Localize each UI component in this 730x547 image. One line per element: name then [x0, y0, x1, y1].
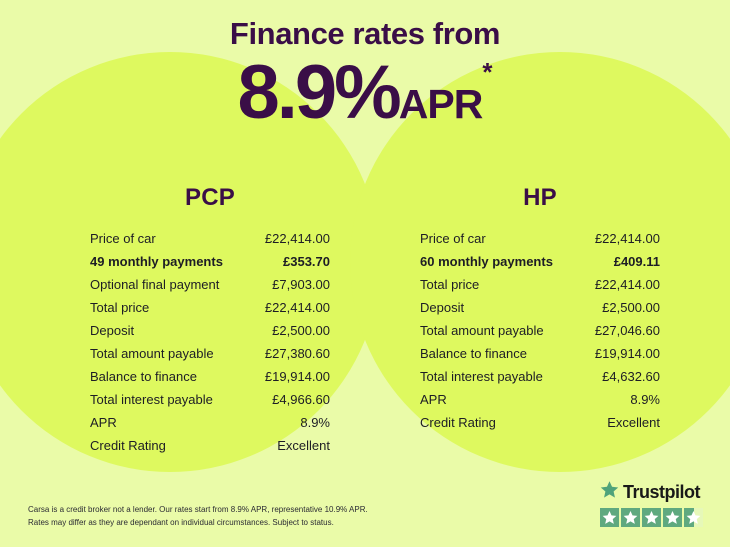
row-label: Total interest payable [90, 388, 213, 411]
table-row: Balance to finance £19,914.00 [90, 365, 330, 388]
row-value: £22,414.00 [255, 296, 330, 319]
row-value: £353.70 [273, 250, 330, 273]
row-label: Optional final payment [90, 273, 219, 296]
table-row: 49 monthly payments £353.70 [90, 250, 330, 273]
row-label: Deposit [420, 296, 464, 319]
comparison-tables: PCP Price of car £22,414.00 49 monthly p… [0, 186, 730, 457]
row-value: £19,914.00 [255, 365, 330, 388]
hero-rate-line: 8.9%APR* [0, 49, 730, 131]
banner-content: Finance rates from 8.9%APR* PCP Price of… [0, 0, 730, 547]
trustpilot-rating[interactable]: Trustpilot [600, 480, 710, 527]
row-value: 8.9% [620, 388, 660, 411]
row-label: Credit Rating [90, 434, 166, 457]
star-icon [600, 508, 619, 527]
hero-section: Finance rates from 8.9%APR* [0, 0, 730, 131]
row-label: Credit Rating [420, 411, 496, 434]
star-icon [663, 508, 682, 527]
disclaimer-line-2: Rates may differ as they are dependant o… [28, 516, 458, 529]
table-row: Price of car £22,414.00 [90, 227, 330, 250]
legal-disclaimer: Carsa is a credit broker not a lender. O… [28, 503, 458, 529]
table-row: Deposit £2,500.00 [420, 296, 660, 319]
row-value: £22,414.00 [255, 227, 330, 250]
row-value: £7,903.00 [262, 273, 330, 296]
table-row: Deposit £2,500.00 [90, 319, 330, 342]
row-label: Total price [420, 273, 479, 296]
table-row: Optional final payment £7,903.00 [90, 273, 330, 296]
hero-asterisk: * [482, 57, 492, 87]
table-row: Total interest payable £4,966.60 [90, 388, 330, 411]
finance-rates-banner: Finance rates from 8.9%APR* PCP Price of… [0, 0, 730, 547]
row-value: £4,632.60 [592, 365, 660, 388]
table-row: Total price £22,414.00 [90, 296, 330, 319]
row-value: Excellent [267, 434, 330, 457]
row-label: APR [420, 388, 447, 411]
row-value: £4,966.60 [262, 388, 330, 411]
table-row: Price of car £22,414.00 [420, 227, 660, 250]
hero-apr-label: APR [399, 81, 483, 127]
row-label: Deposit [90, 319, 134, 342]
trustpilot-star-icon [600, 480, 619, 504]
table-row: APR 8.9% [420, 388, 660, 411]
table-row: Total interest payable £4,632.60 [420, 365, 660, 388]
table-row: Credit Rating Excellent [90, 434, 330, 457]
row-value: £22,414.00 [585, 227, 660, 250]
star-icon [642, 508, 661, 527]
row-label: Total amount payable [420, 319, 544, 342]
table-row: APR 8.9% [90, 411, 330, 434]
row-label: 60 monthly payments [420, 250, 553, 273]
hp-heading: HP [420, 186, 660, 210]
row-value: £2,500.00 [592, 296, 660, 319]
hero-title: Finance rates from [0, 18, 730, 49]
row-value: £27,046.60 [585, 319, 660, 342]
table-row: Credit Rating Excellent [420, 411, 660, 434]
row-label: Price of car [420, 227, 486, 250]
row-label: Total interest payable [420, 365, 543, 388]
disclaimer-line-1: Carsa is a credit broker not a lender. O… [28, 503, 458, 516]
row-label: Price of car [90, 227, 156, 250]
trustpilot-name: Trustpilot [623, 483, 700, 501]
pcp-table: PCP Price of car £22,414.00 49 monthly p… [0, 186, 365, 457]
row-value: £22,414.00 [585, 273, 660, 296]
row-value: £27,380.60 [255, 342, 330, 365]
table-row: Total amount payable £27,380.60 [90, 342, 330, 365]
star-half-icon [684, 508, 703, 527]
hp-table: HP Price of car £22,414.00 60 monthly pa… [365, 186, 730, 457]
table-row: Total price £22,414.00 [420, 273, 660, 296]
row-value: Excellent [597, 411, 660, 434]
row-label: 49 monthly payments [90, 250, 223, 273]
row-label: Balance to finance [420, 342, 527, 365]
row-value: £2,500.00 [262, 319, 330, 342]
star-icon [621, 508, 640, 527]
row-label: Total price [90, 296, 149, 319]
table-row: Balance to finance £19,914.00 [420, 342, 660, 365]
trustpilot-wordmark: Trustpilot [600, 480, 710, 504]
row-label: Total amount payable [90, 342, 214, 365]
row-value: 8.9% [290, 411, 330, 434]
table-row: Total amount payable £27,046.60 [420, 319, 660, 342]
table-row: 60 monthly payments £409.11 [420, 250, 660, 273]
row-value: £19,914.00 [585, 342, 660, 365]
row-value: £409.11 [604, 250, 660, 273]
row-label: Balance to finance [90, 365, 197, 388]
row-label: APR [90, 411, 117, 434]
pcp-heading: PCP [90, 186, 330, 210]
hero-rate-value: 8.9% [238, 50, 399, 135]
trustpilot-stars [600, 508, 710, 527]
